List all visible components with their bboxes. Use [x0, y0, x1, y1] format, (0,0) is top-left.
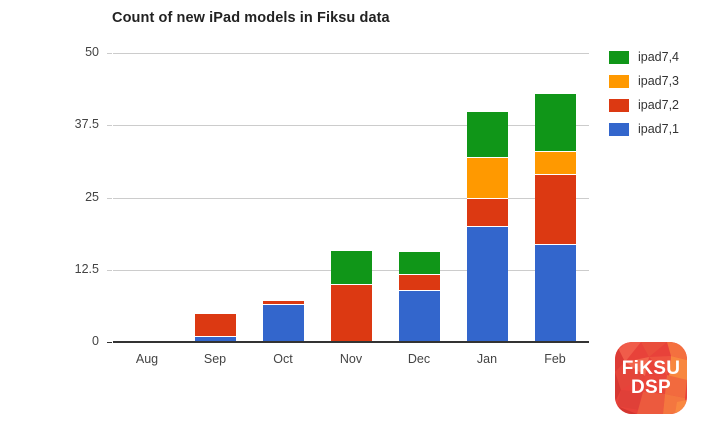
bar-segment-ipad72[interactable] [331, 284, 372, 342]
legend-label: ipad7,3 [638, 74, 679, 88]
bar-segment-ipad74[interactable] [331, 250, 372, 285]
bar-stack[interactable] [399, 53, 440, 342]
chart-title: Count of new iPad models in Fiksu data [112, 10, 390, 26]
legend-swatch [609, 75, 629, 88]
bar-segment-ipad72[interactable] [535, 174, 576, 243]
y-tick-label: 0 [92, 334, 99, 348]
bar-segment-ipad71[interactable] [467, 226, 508, 342]
legend-item[interactable]: ipad7,4 [609, 45, 679, 69]
bar-segment-ipad72[interactable] [195, 313, 236, 336]
bar-segment-ipad72[interactable] [467, 198, 508, 227]
y-tick-mark [107, 53, 112, 54]
bar-segment-ipad74[interactable] [467, 111, 508, 157]
logo-line-1: FiKSU [622, 359, 681, 378]
bar-segment-ipad74[interactable] [399, 251, 440, 274]
legend-item[interactable]: ipad7,1 [609, 117, 679, 141]
y-tick-label: 12.5 [75, 262, 99, 276]
y-tick-mark [107, 270, 112, 271]
logo-line-2: DSP [631, 378, 671, 397]
bar-segment-ipad72[interactable] [263, 300, 304, 305]
y-tick-label: 25 [85, 190, 99, 204]
y-tick-mark [107, 125, 112, 126]
bar-stack[interactable] [331, 53, 372, 342]
logo-text: FiKSU DSP [615, 342, 687, 414]
bar-segment-ipad73[interactable] [535, 151, 576, 174]
bar-segment-ipad71[interactable] [535, 244, 576, 342]
x-tick-label: Feb [515, 352, 595, 366]
y-tick-mark [107, 342, 112, 343]
legend-swatch [609, 123, 629, 136]
legend-label: ipad7,4 [638, 50, 679, 64]
legend-item[interactable]: ipad7,3 [609, 69, 679, 93]
fiksu-dsp-logo: FiKSU DSP [615, 342, 687, 414]
legend-label: ipad7,2 [638, 98, 679, 112]
legend-item[interactable]: ipad7,2 [609, 93, 679, 117]
x-axis-line [113, 341, 589, 343]
bar-stack[interactable] [127, 53, 168, 342]
legend-label: ipad7,1 [638, 122, 679, 136]
y-tick-mark [107, 198, 112, 199]
plot-area [113, 53, 589, 342]
bar-segment-ipad73[interactable] [467, 157, 508, 197]
legend-swatch [609, 51, 629, 64]
bar-segment-ipad72[interactable] [399, 274, 440, 290]
bar-segment-ipad74[interactable] [535, 93, 576, 151]
bar-segment-ipad71[interactable] [263, 304, 304, 342]
bar-stack[interactable] [263, 53, 304, 342]
y-tick-label: 37.5 [75, 117, 99, 131]
y-tick-label: 50 [85, 45, 99, 59]
bar-stack[interactable] [535, 53, 576, 342]
bar-stack[interactable] [467, 53, 508, 342]
bar-segment-ipad71[interactable] [399, 290, 440, 342]
legend-swatch [609, 99, 629, 112]
bar-stack[interactable] [195, 53, 236, 342]
chart-legend: ipad7,4ipad7,3ipad7,2ipad7,1 [609, 45, 679, 141]
